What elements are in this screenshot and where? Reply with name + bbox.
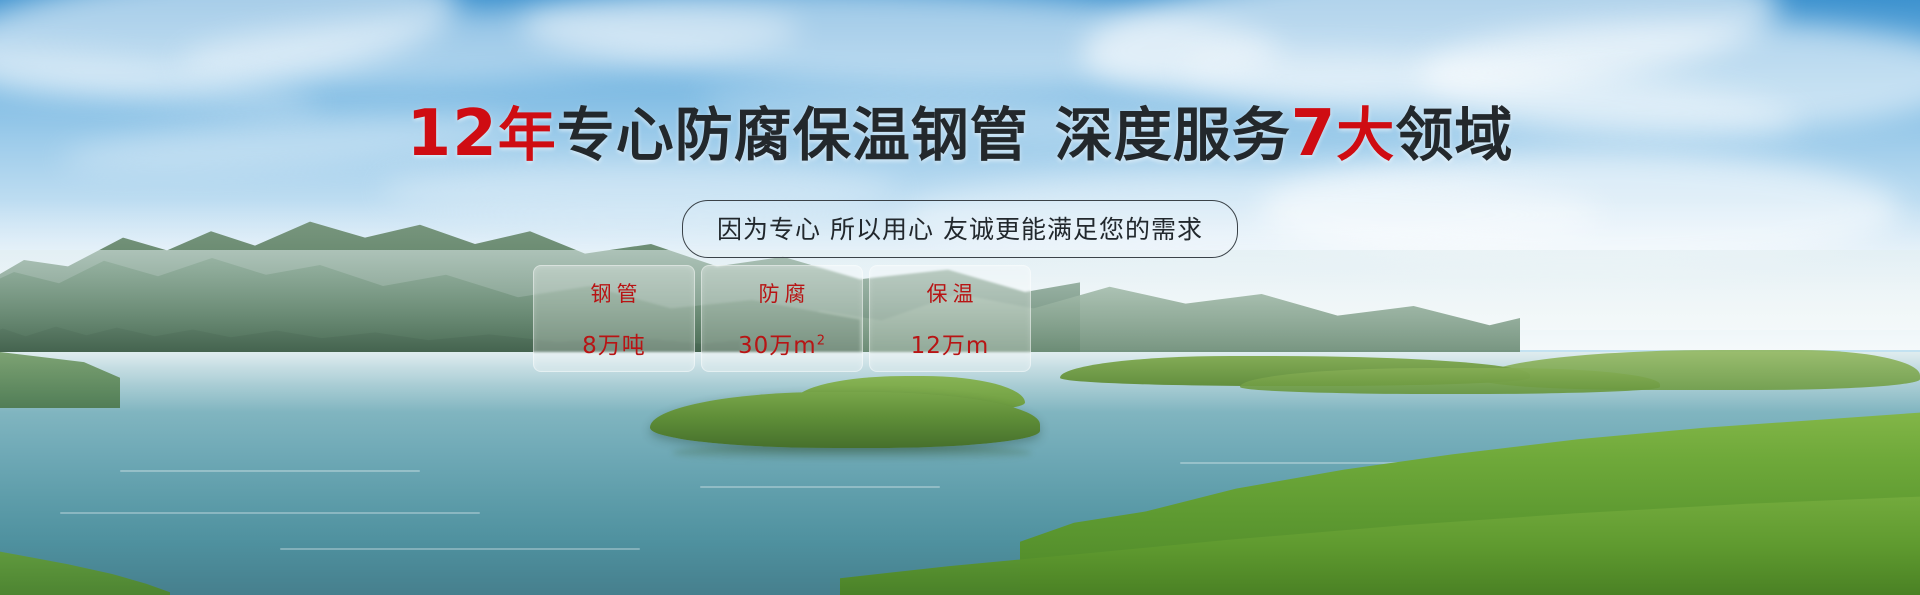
stat-card-anticorrosion[interactable]: 防腐 30万m2 — [701, 265, 863, 372]
headline-main-text: 专心防腐保温钢管 — [557, 101, 1029, 169]
hero-banner: 12年专心防腐保温钢管深度服务7大领域 因为专心 所以用心 友诚更能满足您的需求… — [0, 0, 1920, 595]
water-ripple — [280, 548, 640, 550]
stat-card-value: 12万m — [911, 326, 990, 360]
headline-years-unit: 年 — [498, 101, 557, 169]
water-ripple — [120, 470, 420, 472]
stat-card-value: 8万吨 — [582, 326, 646, 360]
stat-card-title: 防腐 — [759, 278, 811, 312]
subtitle-pill: 因为专心 所以用心 友诚更能满足您的需求 — [682, 200, 1238, 258]
stat-card-value: 30万m2 — [738, 326, 826, 360]
water-ripple — [60, 512, 480, 514]
stat-card-title: 钢管 — [591, 278, 643, 312]
stat-card-title: 保温 — [927, 278, 979, 312]
stat-card-steel-pipe[interactable]: 钢管 8万吨 — [533, 265, 695, 372]
headline-service-text: 深度服务 — [1055, 101, 1291, 169]
headline-fields-number: 7 — [1291, 97, 1337, 171]
subtitle-container: 因为专心 所以用心 友诚更能满足您的需求 — [0, 200, 1920, 258]
stat-card-group: 钢管 8万吨 防腐 30万m2 保温 12万m — [533, 265, 1031, 372]
headline-fields-unit: 大 — [1336, 101, 1395, 169]
water-ripple — [700, 486, 940, 488]
stat-card-unit-sup: 2 — [817, 333, 826, 348]
grass-island — [650, 392, 1040, 448]
headline-years-number: 12 — [407, 97, 498, 171]
banner-headline: 12年专心防腐保温钢管深度服务7大领域 — [0, 88, 1920, 172]
stat-card-insulation[interactable]: 保温 12万m — [869, 265, 1031, 372]
headline-fields-text: 领域 — [1395, 101, 1513, 169]
far-sandbar — [1240, 368, 1660, 394]
